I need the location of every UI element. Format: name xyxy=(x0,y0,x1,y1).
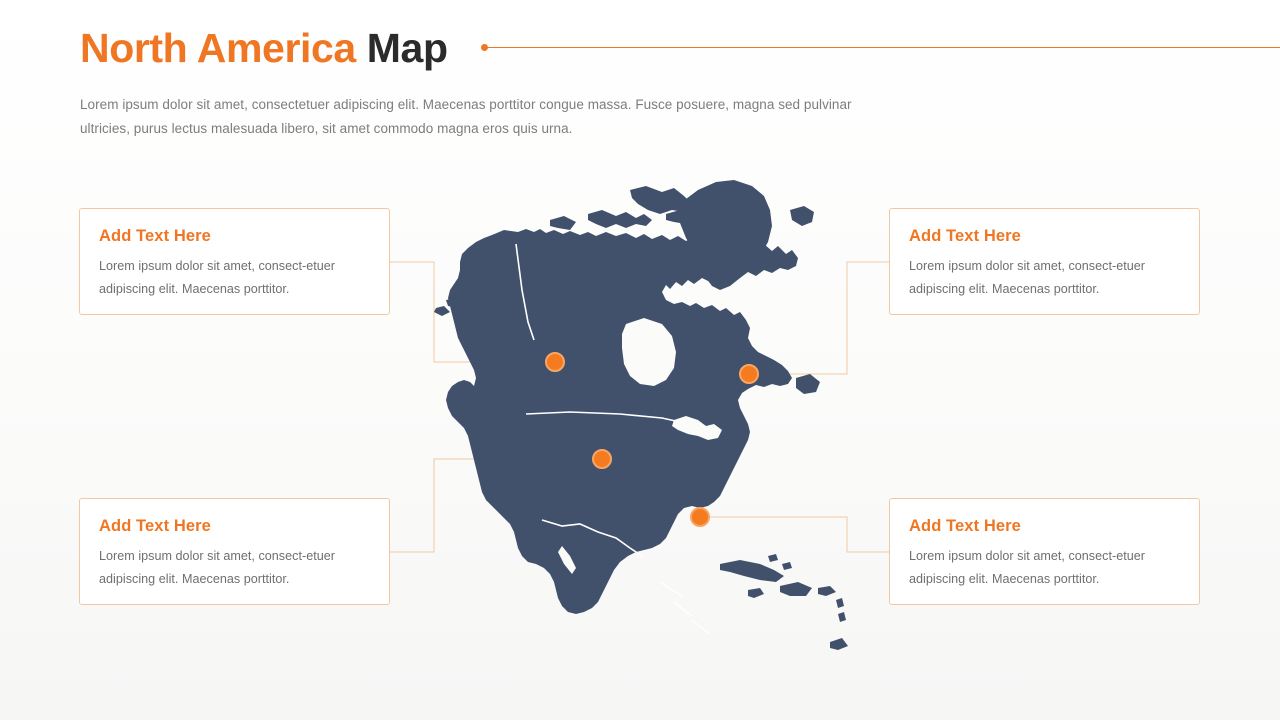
callout-card-top-right[interactable]: Add Text Here Lorem ipsum dolor sit amet… xyxy=(889,208,1200,315)
map-landmass xyxy=(434,180,848,650)
callout-card-bottom-right[interactable]: Add Text Here Lorem ipsum dolor sit amet… xyxy=(889,498,1200,605)
marker-central[interactable] xyxy=(592,449,612,469)
callout-title: Add Text Here xyxy=(99,517,211,536)
callout-title: Add Text Here xyxy=(909,227,1021,246)
page-subtitle: Lorem ipsum dolor sit amet, consectetuer… xyxy=(80,93,870,140)
marker-southeast[interactable] xyxy=(690,507,710,527)
callout-card-bottom-left[interactable]: Add Text Here Lorem ipsum dolor sit amet… xyxy=(79,498,390,605)
page-title-accent: North America xyxy=(80,25,356,71)
rule-line xyxy=(487,47,1280,48)
callout-title: Add Text Here xyxy=(909,517,1021,536)
callout-body: Lorem ipsum dolor sit amet, consect-etue… xyxy=(909,545,1181,590)
callout-title: Add Text Here xyxy=(99,227,211,246)
callout-card-top-left[interactable]: Add Text Here Lorem ipsum dolor sit amet… xyxy=(79,208,390,315)
title-underline-rule xyxy=(481,43,1280,51)
page-title-rest: Map xyxy=(367,25,448,71)
callout-body: Lorem ipsum dolor sit amet, consect-etue… xyxy=(909,255,1181,300)
marker-northeast[interactable] xyxy=(739,364,759,384)
marker-northwest[interactable] xyxy=(545,352,565,372)
map-svg-icon xyxy=(430,172,850,672)
callout-body: Lorem ipsum dolor sit amet, consect-etue… xyxy=(99,545,371,590)
north-america-map xyxy=(430,172,850,672)
callout-body: Lorem ipsum dolor sit amet, consect-etue… xyxy=(99,255,371,300)
slide-canvas: North America Map Lorem ipsum dolor sit … xyxy=(0,0,1280,720)
